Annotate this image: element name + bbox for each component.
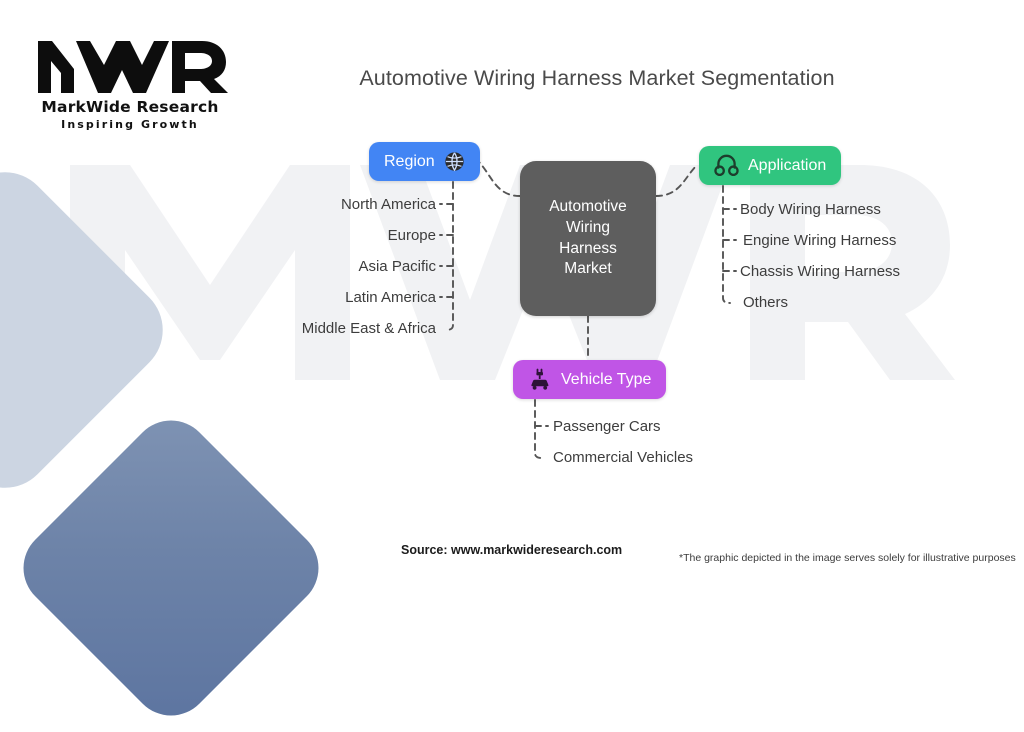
connector-vehicle-spine bbox=[535, 400, 542, 458]
branch-label-region: Region bbox=[384, 153, 435, 171]
leaf-region-4: Middle East & Africa bbox=[302, 320, 436, 337]
branch-badge-vehicle-type[interactable]: Vehicle Type bbox=[513, 360, 666, 399]
source-label: Source: www.markwideresearch.com bbox=[401, 543, 622, 557]
leaf-region-3: Latin America bbox=[345, 289, 436, 306]
center-node-label: AutomotiveWiringHarnessMarket bbox=[549, 197, 627, 281]
connector-center-application bbox=[656, 165, 697, 196]
branch-label-vehicle-type: Vehicle Type bbox=[561, 371, 651, 389]
leaf-region-2: Asia Pacific bbox=[358, 258, 436, 275]
leaf-vehicle-1: Commercial Vehicles bbox=[553, 449, 693, 466]
branch-badge-application[interactable]: Application bbox=[699, 146, 841, 185]
leaf-region-1: Europe bbox=[388, 227, 436, 244]
branch-badge-region[interactable]: Region bbox=[369, 142, 480, 181]
connector-center-region bbox=[479, 162, 520, 196]
leaf-vehicle-0: Passenger Cars bbox=[553, 418, 661, 435]
headphones-icon bbox=[714, 153, 739, 178]
leaf-application-1: Engine Wiring Harness bbox=[743, 232, 896, 249]
leaf-application-3: Others bbox=[743, 294, 788, 311]
infographic-canvas: MarkWide Research Inspiring Growth Autom… bbox=[0, 0, 1024, 576]
disclaimer-label: *The graphic depicted in the image serve… bbox=[679, 552, 1016, 564]
leaf-region-0: North America bbox=[341, 196, 436, 213]
center-node: AutomotiveWiringHarnessMarket bbox=[520, 161, 656, 316]
connector-application-spine bbox=[723, 186, 730, 303]
leaf-application-0: Body Wiring Harness bbox=[740, 201, 881, 218]
connector-lines bbox=[0, 0, 1024, 576]
electric-car-icon bbox=[528, 368, 552, 392]
branch-label-application: Application bbox=[748, 157, 826, 175]
leaf-application-2: Chassis Wiring Harness bbox=[740, 263, 900, 280]
globe-icon bbox=[444, 151, 465, 172]
